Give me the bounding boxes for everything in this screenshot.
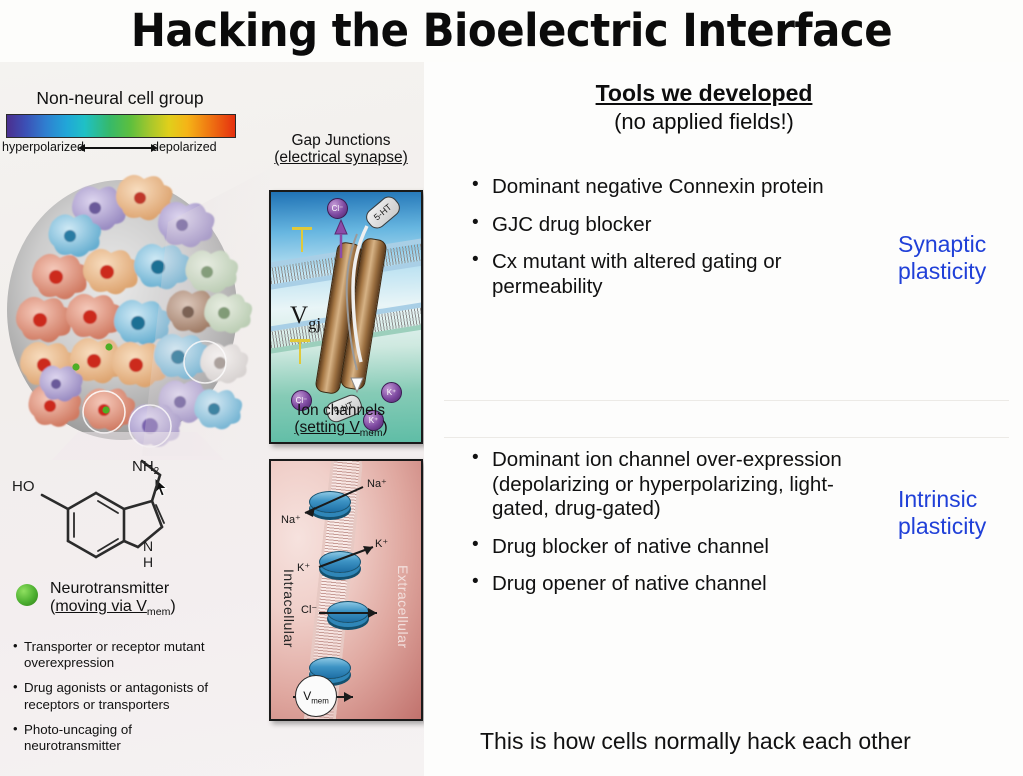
serotonin-svg: HO N H NH2 bbox=[6, 457, 191, 577]
gap-junction-title: Gap Junctions (electrical synapse) bbox=[258, 132, 424, 167]
cl-label: Cl⁻ bbox=[301, 603, 317, 616]
intracellular-label: Intracellular bbox=[281, 569, 297, 648]
intrinsic-plasticity-label: Intrinsic plasticity bbox=[898, 486, 986, 540]
ion-channel-illustration: Na⁺ Na⁺ K⁺ K⁺ Cl⁻ Intracellular Extracel… bbox=[269, 459, 423, 721]
nt-legend-line1: Neurotransmitter bbox=[50, 580, 169, 597]
k-in-label: K⁺ bbox=[297, 561, 310, 574]
colorbar-depolarized-label: depolarized bbox=[152, 140, 217, 154]
serotonin-ho-label: HO bbox=[12, 478, 35, 495]
tools-heading: Tools we developed bbox=[424, 80, 984, 107]
gap-junction-title-line2: (electrical synapse) bbox=[274, 149, 408, 166]
left-panel-bullet-list: Transporter or receptor mutant overexpre… bbox=[13, 639, 228, 763]
list-item: Drug opener of native channel bbox=[468, 572, 858, 597]
ion-potassium-right: K⁺ bbox=[381, 382, 402, 403]
serotonin-n-label: N bbox=[143, 538, 153, 554]
serotonin-h-label: H bbox=[143, 554, 153, 570]
gap-junction-title-line1: Gap Junctions bbox=[291, 132, 390, 149]
synaptic-plasticity-label: Synaptic plasticity bbox=[898, 231, 986, 285]
list-item: Dominant negative Connexin protein bbox=[468, 175, 858, 200]
colorbar-hyperpolarized-label: hyperpolarized bbox=[2, 140, 84, 154]
cell-cluster-svg bbox=[0, 160, 272, 460]
section-divider-bottom bbox=[444, 437, 1009, 438]
list-item: Transporter or receptor mutant overexpre… bbox=[13, 639, 228, 671]
membrane-voltage-colorbar bbox=[6, 114, 236, 138]
na-out-label: Na⁺ bbox=[367, 477, 387, 490]
list-item: Cx mutant with altered gating or permeab… bbox=[468, 250, 858, 299]
list-item: Drug blocker of native channel bbox=[468, 535, 858, 560]
na-in-label: Na⁺ bbox=[281, 513, 301, 526]
cell-cluster-illustration bbox=[0, 160, 272, 460]
non-neural-cell-group-label: Non-neural cell group bbox=[20, 88, 220, 109]
neurotransmitter-legend-dot-icon bbox=[16, 584, 38, 606]
serotonin-structure-illustration: HO N H NH2 bbox=[6, 457, 191, 577]
list-item: GJC drug blocker bbox=[468, 213, 858, 238]
tools-heading-block: Tools we developed (no applied fields!) bbox=[424, 80, 984, 135]
colorbar-double-arrow-icon bbox=[84, 147, 152, 149]
slide-root: Hacking the Bioelectric Interface Non-ne… bbox=[0, 0, 1023, 776]
list-item: Photo-uncaging of neurotransmitter bbox=[13, 722, 228, 754]
tools-subheading: (no applied fields!) bbox=[424, 109, 984, 135]
ion-channel-title: Ion channels (setting Vmem) bbox=[258, 402, 424, 440]
k-out-label: K⁺ bbox=[375, 537, 388, 550]
nt-legend-line2: (moving via Vmem) bbox=[50, 598, 176, 615]
serotonin-nh2-label: NH2 bbox=[132, 458, 160, 477]
vmem-badge: Vmem bbox=[295, 675, 337, 717]
neurotransmitter-legend-label: Neurotransmitter (moving via Vmem) bbox=[50, 580, 176, 619]
page-title: Hacking the Bioelectric Interface bbox=[36, 4, 987, 57]
ion-channel-title-line2: (setting Vmem) bbox=[294, 419, 387, 436]
right-content-panel: Tools we developed (no applied fields!) … bbox=[424, 62, 1023, 776]
list-item: Dominant ion channel over-expression (de… bbox=[468, 448, 858, 522]
vgj-label: Vgj bbox=[290, 302, 321, 334]
intrinsic-plasticity-bullets: Dominant ion channel over-expression (de… bbox=[468, 448, 858, 610]
left-figure-panel: Non-neural cell group hyperpolarized dep… bbox=[0, 62, 424, 776]
synaptic-plasticity-bullets: Dominant negative Connexin protein GJC d… bbox=[468, 175, 858, 312]
section-divider-top bbox=[444, 400, 1009, 401]
ion-channel-title-line1: Ion channels bbox=[297, 402, 385, 419]
list-item: Drug agonists or antagonists of receptor… bbox=[13, 680, 228, 712]
ion-chloride-top: Cl⁻ bbox=[327, 198, 348, 219]
footer-caption: This is how cells normally hack each oth… bbox=[480, 728, 911, 755]
extracellular-label: Extracellular bbox=[395, 565, 411, 649]
